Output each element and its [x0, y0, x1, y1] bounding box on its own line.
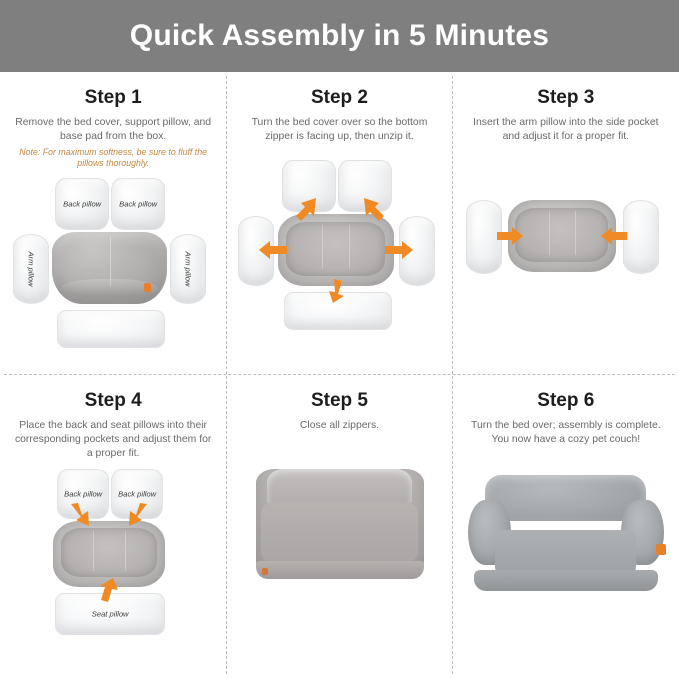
cover-interior [286, 222, 386, 276]
step-2-title: Step 2 [311, 88, 368, 109]
brand-tag-icon [656, 544, 666, 555]
step-6-illustration [460, 469, 672, 678]
arrow-up-right-icon [362, 196, 388, 222]
page-title: Quick Assembly in 5 Minutes [130, 19, 549, 53]
cover-interior [61, 528, 157, 578]
pocket-seam-right [349, 225, 350, 268]
finished-pet-couch [468, 475, 664, 591]
couch-backrest [485, 475, 646, 521]
step-1-note: Note: For maximum softness, be sure to f… [18, 147, 208, 170]
step-cell-4: Step 4 Place the back and seat pillows i… [0, 375, 226, 678]
pocket-seam-left [93, 531, 94, 571]
header-banner: Quick Assembly in 5 Minutes [0, 0, 679, 72]
step-4-title: Step 4 [85, 391, 142, 412]
arrow-left-insert-icon [600, 226, 628, 246]
bed-backrest [267, 469, 412, 506]
steps-grid: Step 1 Remove the bed cover, support pil… [0, 72, 679, 678]
arrow-up-seat-icon [99, 577, 121, 603]
back-pillow-right-label: Back pillow [112, 199, 164, 208]
arrow-left-icon [258, 240, 288, 260]
arrow-down-icon [326, 278, 348, 304]
arm-pillow-left: Arm pillow [13, 234, 49, 304]
step-3-illustration [460, 186, 672, 375]
arrow-right-icon [384, 240, 414, 260]
step-6-title: Step 6 [537, 391, 594, 412]
arrow-down-left-icon [69, 503, 93, 529]
arm-pillow-right [623, 200, 659, 274]
step-1-description: Remove the bed cover, support pillow, an… [11, 116, 216, 144]
step-cell-1: Step 1 Remove the bed cover, support pil… [0, 72, 226, 375]
arrow-right-insert-icon [496, 226, 524, 246]
brand-tag-icon [144, 283, 151, 292]
base-pad [57, 310, 165, 348]
couch-base [474, 570, 658, 591]
bed-base [256, 561, 424, 579]
steps-row-top: Step 1 Remove the bed cover, support pil… [0, 72, 679, 375]
step-4-illustration: Back pillow Back pillow Seat pillow [7, 469, 219, 678]
back-pillow-left: Back pillow [55, 178, 109, 230]
step-3-title: Step 3 [537, 88, 594, 109]
assembled-bed-closed [256, 469, 424, 579]
steps-row-bottom: Step 4 Place the back and seat pillows i… [0, 375, 679, 678]
back-pillow-right-label: Back pillow [112, 489, 162, 498]
cover-interior [515, 208, 608, 262]
pocket-seam-left [549, 211, 550, 254]
pocket-seam-right [125, 531, 126, 571]
arm-pillow-right: Arm pillow [170, 234, 206, 304]
step-cell-6: Step 6 Turn the bed over; assembly is co… [453, 375, 679, 678]
seat-pillow-label: Seat pillow [56, 609, 164, 618]
step-cell-5: Step 5 Close all zippers. [226, 375, 452, 678]
bed-seat [261, 502, 419, 564]
back-pillow-right: Back pillow [111, 178, 165, 230]
step-5-illustration [234, 459, 446, 678]
step-5-description: Close all zippers. [300, 419, 379, 433]
step-cell-2: Step 2 Turn the bed cover over so the bo… [226, 72, 452, 375]
arrow-up-left-icon [292, 196, 318, 222]
back-pillow-left-label: Back pillow [56, 199, 108, 208]
step-5-title: Step 5 [311, 391, 368, 412]
arm-pillow-left-label: Arm pillow [27, 251, 36, 286]
step-1-title: Step 1 [85, 88, 142, 109]
back-pillow-left-label: Back pillow [58, 489, 108, 498]
step-4-description: Place the back and seat pillows into the… [11, 419, 216, 461]
step-cell-3: Step 3 Insert the arm pillow into the si… [453, 72, 679, 375]
arm-pillow-right-label: Arm pillow [184, 251, 193, 286]
step-2-illustration [234, 160, 446, 375]
pocket-seam-right [575, 211, 576, 254]
step-3-description: Insert the arm pillow into the side pock… [463, 116, 668, 144]
bed-cover [52, 232, 167, 304]
step-1-illustration: Back pillow Back pillow Arm pillow Arm p… [7, 174, 219, 375]
step-2-description: Turn the bed cover over so the bottom zi… [237, 116, 442, 144]
arrow-down-right-icon [125, 503, 149, 529]
bed-cover-unzipped [278, 214, 394, 286]
brand-tag-icon [262, 568, 268, 575]
pocket-seam-left [322, 225, 323, 268]
step-6-description: Turn the bed over; assembly is complete.… [463, 419, 668, 447]
couch-seat [495, 530, 636, 574]
